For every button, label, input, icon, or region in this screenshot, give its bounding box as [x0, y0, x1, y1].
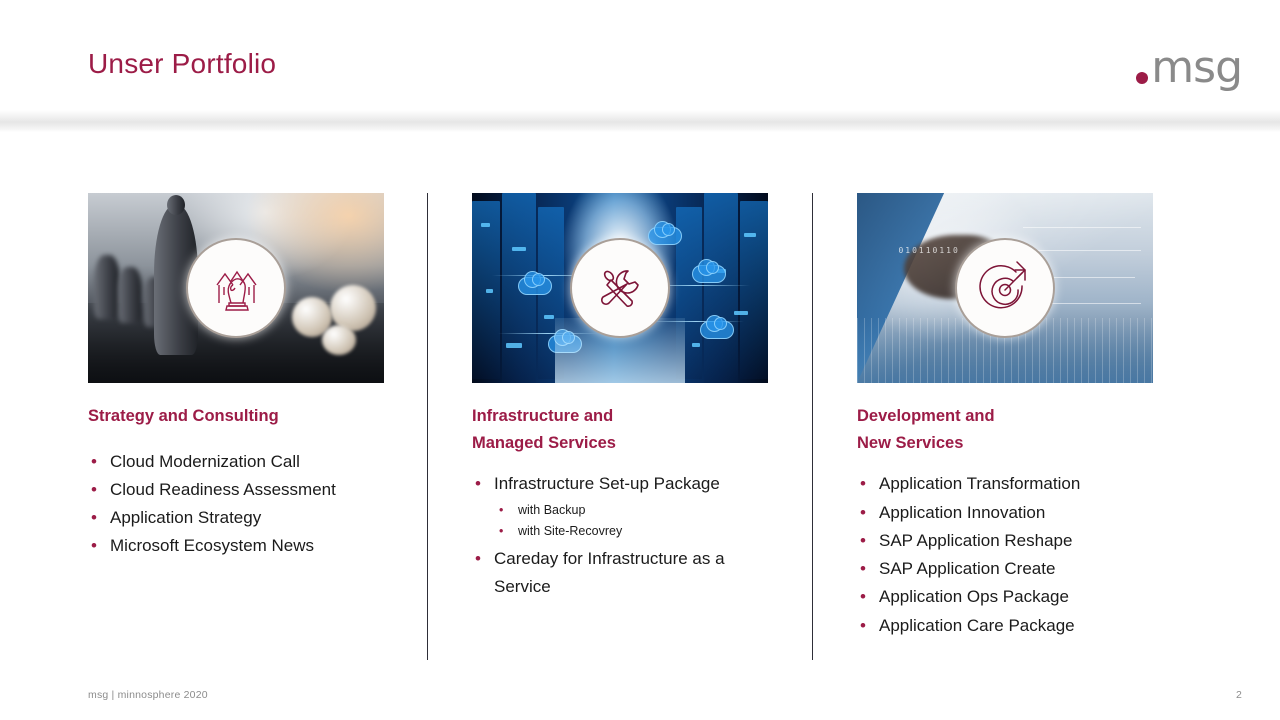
portfolio-columns: Strategy and Consulting Cloud Modernizat… — [0, 193, 1280, 663]
logo-dot-icon — [1136, 72, 1148, 84]
msg-logo: msg — [1136, 46, 1242, 90]
column-heading-line1: Strategy and Consulting — [88, 407, 279, 425]
column-heading-line1: Infrastructure and — [472, 403, 768, 430]
slide: Unser Portfolio msg — [0, 0, 1280, 720]
column-strategy-and-consulting: Strategy and Consulting Cloud Modernizat… — [88, 193, 384, 561]
column-heading-strategy: Strategy and Consulting — [88, 403, 384, 430]
header-divider-band — [0, 110, 1280, 132]
server-rack — [704, 193, 738, 383]
list-item: Application Transformation — [857, 470, 1153, 498]
chess-pawn — [94, 255, 120, 319]
list-item: Application Strategy — [88, 504, 384, 532]
logo-text: msg — [1151, 46, 1242, 90]
column-heading-line2: New Services — [857, 430, 1153, 457]
chess-pawn — [118, 267, 142, 323]
bullet-list-development: Application Transformation Application I… — [857, 470, 1153, 639]
column-heading-line2: Managed Services — [472, 430, 768, 457]
list-item: Microsoft Ecosystem News — [88, 532, 384, 560]
bullet-list-strategy: Cloud Modernization Call Cloud Readiness… — [88, 448, 384, 561]
page-number: 2 — [1236, 689, 1242, 701]
list-item: Application Care Package — [857, 612, 1153, 640]
list-item: Infrastructure Set-up Package — [472, 470, 768, 498]
photo-binary-text: 010110110 — [898, 246, 959, 255]
wrench-screwdriver-icon — [591, 259, 649, 317]
bullet-list-infrastructure: Infrastructure Set-up Package with Backu… — [472, 470, 768, 601]
column-image-strategy — [88, 193, 384, 383]
sub-bullet-list: with Backup with Site-Recovrey — [472, 500, 768, 543]
column-image-development: 010110110 — [857, 193, 1153, 383]
list-item: Cloud Modernization Call — [88, 448, 384, 476]
column-heading-infrastructure: Infrastructure and Managed Services — [472, 403, 768, 456]
column-separator-1 — [427, 193, 428, 660]
column-development-and-new-services: 010110110 — [857, 193, 1153, 640]
cloud-icon — [518, 277, 552, 295]
target-arrow-icon — [976, 259, 1034, 317]
column-heading-development: Development and New Services — [857, 403, 1153, 456]
column-image-infrastructure — [472, 193, 768, 383]
cloud-icon — [648, 227, 682, 245]
list-item: SAP Application Reshape — [857, 527, 1153, 555]
chess-white-piece — [322, 325, 356, 355]
slide-header: Unser Portfolio msg — [0, 0, 1280, 110]
cloud-icon — [700, 321, 734, 339]
list-item: Careday for Infrastructure as a Service — [472, 545, 768, 601]
sub-list-item: with Site-Recovrey — [472, 521, 768, 543]
badge-circle-strategy — [186, 238, 286, 338]
badge-circle-development — [955, 238, 1055, 338]
column-separator-2 — [812, 193, 813, 660]
badge-circle-infrastructure — [570, 238, 670, 338]
server-rack — [740, 201, 768, 379]
list-item: Cloud Readiness Assessment — [88, 476, 384, 504]
list-item: Application Ops Package — [857, 583, 1153, 611]
column-infrastructure-and-managed-services: Infrastructure and Managed Services Infr… — [472, 193, 768, 601]
page-title: Unser Portfolio — [88, 48, 276, 80]
list-item: Application Innovation — [857, 499, 1153, 527]
column-heading-line1: Development and — [857, 403, 1153, 430]
chess-knight-icon — [207, 259, 265, 317]
sub-list-item: with Backup — [472, 500, 768, 522]
footer-text: msg | minnosphere 2020 — [88, 689, 208, 701]
list-item: SAP Application Create — [857, 555, 1153, 583]
chess-king-crown — [167, 195, 185, 215]
cloud-icon — [692, 265, 726, 283]
